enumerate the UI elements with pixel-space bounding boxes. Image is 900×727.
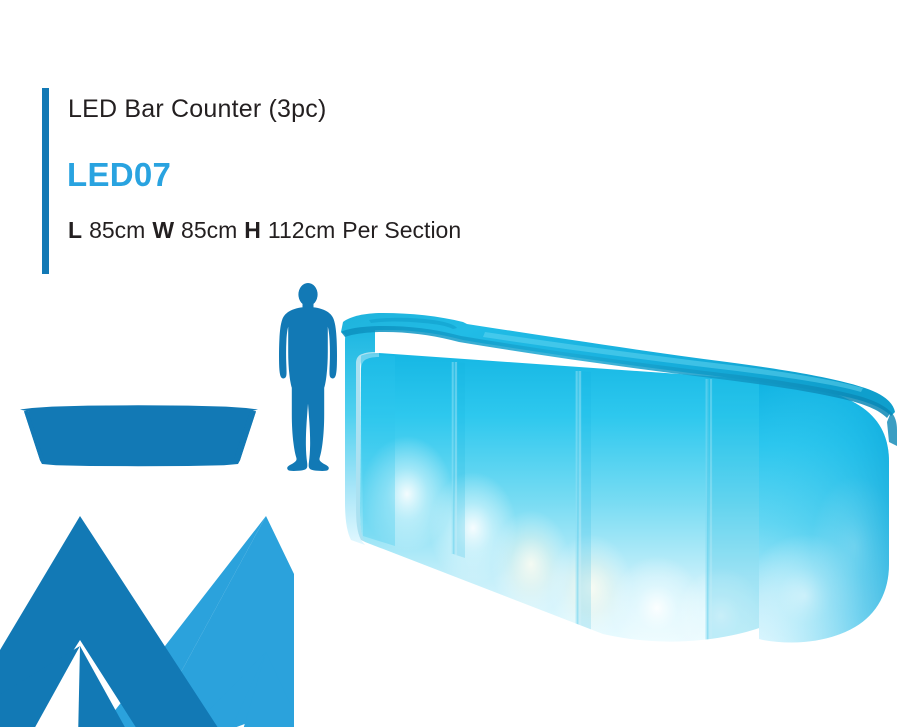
product-info-block: LED Bar Counter (3pc) LED07 L85cmW85cmH1… (42, 88, 602, 274)
scale-reference-group (0, 280, 345, 480)
product-code: LED07 (67, 155, 171, 195)
dimension-height-value: 112cm (268, 217, 335, 243)
product-dimensions: L85cmW85cmH112cmPer Section (68, 217, 461, 245)
accent-bar (42, 88, 49, 274)
product-image-led-bar-counter (335, 296, 900, 656)
mountain-m-logo (0, 500, 294, 727)
bar-counter-footprint-silhouette (18, 342, 260, 472)
dimension-length-value: 85cm (89, 217, 145, 243)
product-spec-card: LED Bar Counter (3pc) LED07 L85cmW85cmH1… (0, 0, 900, 727)
bar-right-end-cap (745, 376, 899, 656)
dimension-note: Per Section (342, 217, 461, 243)
dimension-width-key: W (152, 217, 174, 243)
dimension-length-key: L (68, 217, 82, 243)
page-title: LED Bar Counter (3pc) (68, 94, 326, 124)
dimension-width-value: 85cm (181, 217, 237, 243)
dimension-height-key: H (244, 217, 261, 243)
